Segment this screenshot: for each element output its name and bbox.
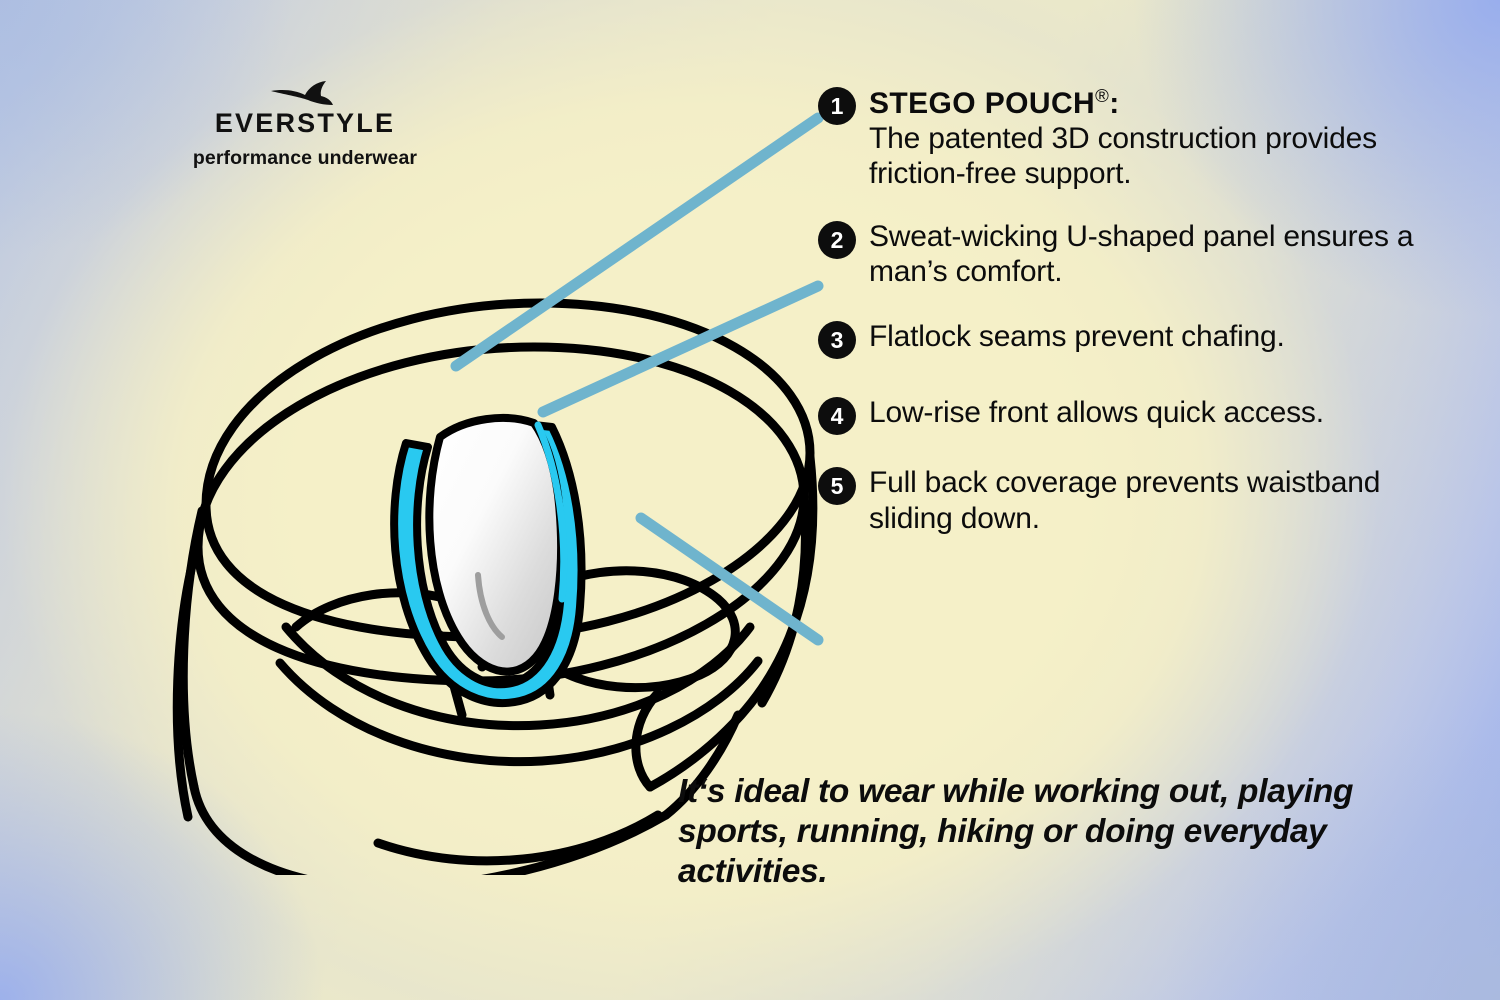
feature-badge-1: 1: [818, 87, 856, 125]
swallow-bird-icon: [155, 78, 455, 112]
feature-title-text-1: STEGO POUCH: [869, 87, 1095, 120]
feature-item-3[interactable]: 3 Flatlock seams prevent chafing.: [818, 319, 1418, 359]
feature-text-4: Low-rise front allows quick access.: [869, 395, 1324, 430]
feature-item-1[interactable]: 1 STEGO POUCH®: The patented 3D construc…: [818, 85, 1418, 191]
feature-item-5[interactable]: 5 Full back coverage prevents waistband …: [818, 465, 1418, 535]
closing-tagline: It‘s ideal to wear while working out, pl…: [678, 772, 1398, 892]
infographic-canvas: EVERSTYLE performance underwear: [0, 0, 1500, 1000]
feature-item-2[interactable]: 2 Sweat-wicking U-shaped panel ensures a…: [818, 219, 1418, 289]
feature-text-3: Flatlock seams prevent chafing.: [869, 319, 1285, 354]
feature-item-4[interactable]: 4 Low-rise front allows quick access.: [818, 395, 1418, 435]
brand-name: EVERSTYLE: [155, 110, 455, 137]
brand-logo: EVERSTYLE performance underwear: [155, 78, 455, 170]
feature-title-1: STEGO POUCH®:: [869, 85, 1418, 121]
feature-badge-2: 2: [818, 221, 856, 259]
feature-badge-3: 3: [818, 321, 856, 359]
feature-body-2: Sweat-wicking U-shaped panel ensures a m…: [869, 219, 1418, 289]
registered-trademark-icon: ®: [1095, 85, 1109, 106]
feature-body-1: The patented 3D construction provides fr…: [869, 121, 1418, 191]
feature-body-3: Flatlock seams prevent chafing.: [869, 319, 1285, 354]
feature-text-1: STEGO POUCH®: The patented 3D constructi…: [869, 85, 1418, 191]
brand-tagline: performance underwear: [155, 147, 455, 170]
feature-text-5: Full back coverage prevents waistband sl…: [869, 465, 1418, 535]
feature-badge-4: 4: [818, 397, 856, 435]
feature-text-2: Sweat-wicking U-shaped panel ensures a m…: [869, 219, 1418, 289]
feature-body-5: Full back coverage prevents waistband sl…: [869, 465, 1418, 535]
feature-list: 1 STEGO POUCH®: The patented 3D construc…: [818, 85, 1418, 536]
feature-title-colon-1: :: [1109, 87, 1119, 120]
underwear-cutaway-illustration: [110, 175, 850, 875]
feature-body-4: Low-rise front allows quick access.: [869, 395, 1324, 430]
feature-badge-5: 5: [818, 467, 856, 505]
